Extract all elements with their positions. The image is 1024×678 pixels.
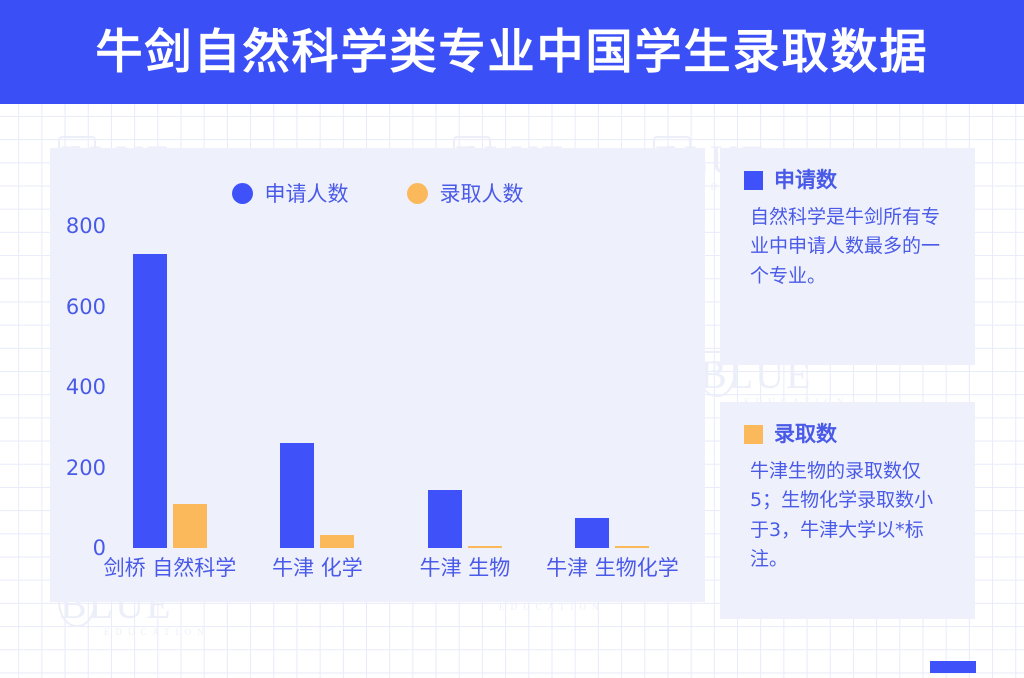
- circle-marker-icon: [407, 183, 428, 204]
- plot-area: 0200400600800: [50, 148, 705, 602]
- bar-apply: [428, 490, 462, 548]
- page-title: 牛剑自然科学类专业中国学生录取数据: [96, 29, 929, 76]
- y-axis: 0200400600800: [58, 226, 106, 548]
- watermark-sub: EDUCATION: [499, 602, 605, 612]
- bar-offer: [615, 546, 649, 548]
- legend-label-apply: 申请人数: [265, 178, 349, 208]
- info-card-apply-body: 自然科学是牛剑所有专业中申请人数最多的一个专业。: [750, 203, 951, 291]
- title-banner: 牛剑自然科学类专业中国学生录取数据: [0, 0, 1024, 104]
- info-card-offer-header: 录取数: [744, 424, 951, 445]
- info-card-offer-title: 录取数: [774, 424, 837, 445]
- bar-apply: [280, 443, 314, 548]
- info-card-offer: 录取数 牛津生物的录取数仅5；生物化学录取数小于3，牛津大学以*标注。: [720, 402, 975, 619]
- color-swatch-icon: [744, 171, 763, 190]
- bar-group: [428, 226, 502, 548]
- bar-apply: [133, 254, 167, 548]
- y-axis-tick-label: 800: [66, 214, 106, 238]
- circle-marker-icon: [232, 183, 253, 204]
- bar-offer: [173, 504, 207, 548]
- bar-group: [575, 226, 649, 548]
- info-card-apply-title: 申请数: [774, 170, 837, 191]
- info-card-apply: 申请数 自然科学是牛剑所有专业中申请人数最多的一个专业。: [720, 148, 975, 365]
- bar-group: [133, 226, 207, 548]
- y-axis-tick-label: 400: [66, 375, 106, 399]
- info-card-apply-header: 申请数: [744, 170, 951, 191]
- bar-offer: [320, 535, 354, 548]
- chart-panel: 申请人数 录取人数 0200400600800 剑桥 自然科学牛津 化学牛津 生…: [50, 148, 705, 602]
- bar-apply: [575, 518, 609, 548]
- legend-label-offer: 录取人数: [440, 178, 524, 208]
- y-axis-tick-label: 600: [66, 295, 106, 319]
- y-axis-tick-label: 200: [66, 456, 106, 480]
- info-card-offer-body: 牛津生物的录取数仅5；生物化学录取数小于3，牛津大学以*标注。: [750, 457, 951, 575]
- color-swatch-icon: [744, 425, 763, 444]
- bar-offer: [468, 546, 502, 548]
- bar-group: [280, 226, 354, 548]
- bottom-accent-bar: [930, 661, 976, 673]
- infographic-page: BLUE EDUCATION BLUE EDUCATION BLUE EDUCA…: [0, 0, 1024, 678]
- bars-region: [108, 226, 698, 548]
- y-axis-tick-label: 0: [93, 536, 106, 560]
- chart-legend: 申请人数 录取人数: [50, 178, 705, 208]
- legend-item-offer: 录取人数: [407, 178, 524, 208]
- watermark-sub: EDUCATION: [104, 627, 210, 637]
- legend-item-apply: 申请人数: [232, 178, 349, 208]
